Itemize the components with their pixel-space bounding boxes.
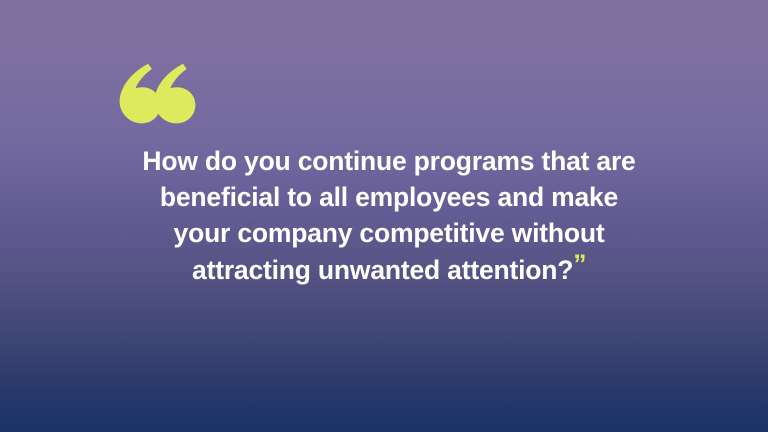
quote-line-4-text: attracting unwanted attention? [192,255,573,285]
double-quote-open-icon [118,60,196,132]
quote-text-block: How do you continue programs that are be… [118,143,660,288]
double-quote-close-icon: ” [573,249,586,279]
quote-line-1: How do you continue programs that are [118,143,660,179]
quote-line-4: attracting unwanted attention?” [118,251,660,288]
quote-line-3: your company competitive without [118,215,660,251]
quote-slide: How do you continue programs that are be… [0,0,768,432]
quote-line-2: beneficial to all employees and make [118,179,660,215]
